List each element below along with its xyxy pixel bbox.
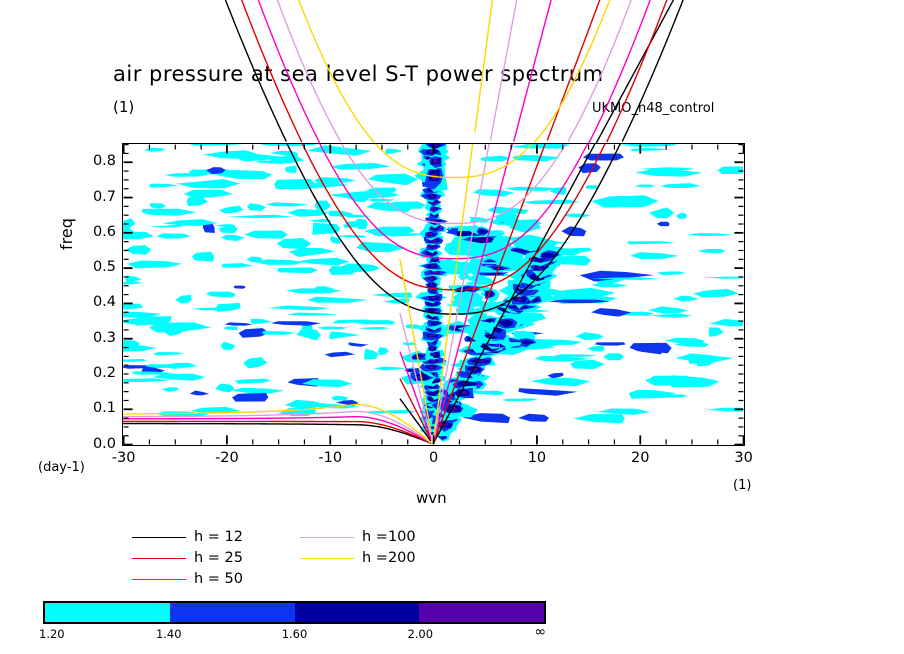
colorbar-tick-label: 1.60 [277, 627, 313, 641]
legend-swatch-line [300, 558, 354, 559]
y-tick-label: 0.8 [82, 153, 116, 169]
y-tick-label: 0.3 [82, 330, 116, 346]
title-index-label: (1) [113, 98, 134, 116]
legend-swatch-line [300, 537, 354, 538]
legend-item-label: h = 25 [194, 550, 243, 566]
page-title: air pressure at sea level S-T power spec… [113, 62, 604, 86]
y-tick-label: 0.5 [82, 259, 116, 275]
plot-canvas [123, 144, 744, 445]
x-tick-label: 0 [414, 450, 454, 466]
legend-item: h = 50 [132, 570, 243, 588]
legend-item-label: h =200 [362, 550, 416, 566]
x-tick-label: -30 [104, 450, 144, 466]
colorbar-band [295, 603, 420, 622]
x-axis-label: wvn [416, 489, 447, 507]
y-tick-label: 0.2 [82, 365, 116, 381]
colorbar-tick-label: 1.40 [151, 627, 187, 641]
x-tick-label: -10 [310, 450, 350, 466]
colorbar-band [419, 603, 544, 622]
legend-item-label: h =100 [362, 529, 416, 545]
x-tick-label: 20 [620, 450, 660, 466]
colorbar-tick-label: 1.20 [39, 627, 65, 641]
colorbar-band [170, 603, 295, 622]
x-tick-label: 30 [724, 450, 764, 466]
legend-swatch-line [132, 537, 186, 538]
legend: h = 12h = 25h = 50h =100h =200 [132, 528, 462, 590]
colorbar-band [45, 603, 170, 622]
colorbar-tick-label: ∞ [524, 624, 546, 640]
legend-item-label: h = 50 [194, 571, 243, 587]
y-tick-label: 0.1 [82, 400, 116, 416]
y-axis-label: freq [57, 218, 76, 250]
x-tick-label: 10 [517, 450, 557, 466]
y-tick-label: 0.7 [82, 189, 116, 205]
plot-area [122, 143, 745, 446]
x-tick-label: -20 [207, 450, 247, 466]
y-tick-label: 0.4 [82, 294, 116, 310]
legend-item: h = 12 [132, 528, 243, 546]
legend-item: h = 25 [132, 549, 243, 567]
legend-swatch-line [132, 558, 186, 559]
colorbar [43, 601, 546, 624]
legend-item: h =200 [300, 549, 416, 567]
spectrum-heatmap [123, 144, 743, 444]
x-axis-unit-label: (day-1) [38, 460, 85, 475]
legend-item: h =100 [300, 528, 416, 546]
legend-swatch-line [132, 579, 186, 580]
chart-root: air pressure at sea level S-T power spec… [0, 0, 904, 654]
legend-item-label: h = 12 [194, 529, 243, 545]
x-axis-corner-label: (1) [733, 478, 751, 493]
dataset-label: UKMO_n48_control [592, 101, 714, 116]
y-tick-label: 0.6 [82, 224, 116, 240]
colorbar-tick-label: 2.00 [402, 627, 438, 641]
